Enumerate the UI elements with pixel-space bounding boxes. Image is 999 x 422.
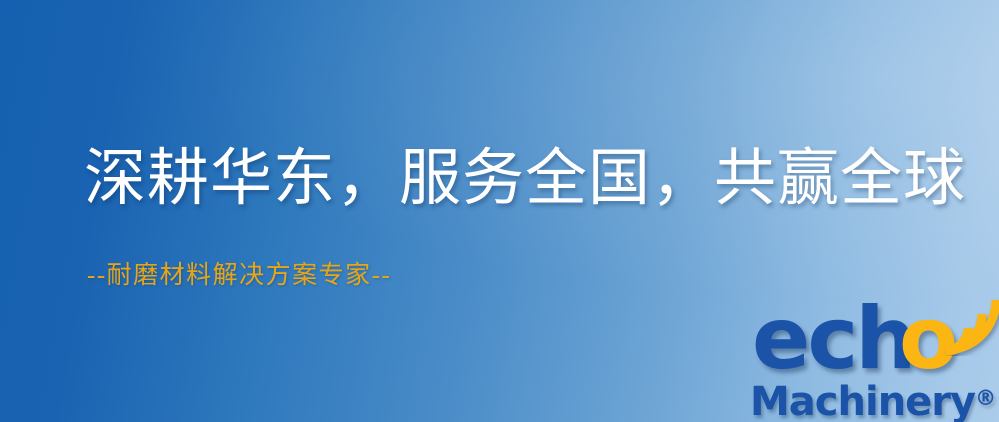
banner-subheadline: --耐磨材料解决方案专家-- <box>87 263 391 288</box>
company-logo[interactable]: ech o Machinery® <box>738 296 999 422</box>
signal-waves-icon <box>942 294 999 356</box>
logo-text-machinery: Machinery <box>750 379 975 422</box>
promo-banner: 深耕华东，服务全国，共赢全球 --耐磨材料解决方案专家-- ech o Mach… <box>0 0 999 422</box>
banner-headline: 深耕华东，服务全国，共赢全球 <box>84 148 966 210</box>
logo-text-ech: ech <box>752 298 914 380</box>
registered-trademark-icon: ® <box>975 386 996 410</box>
logo-subbrand: Machinery® <box>750 376 996 422</box>
